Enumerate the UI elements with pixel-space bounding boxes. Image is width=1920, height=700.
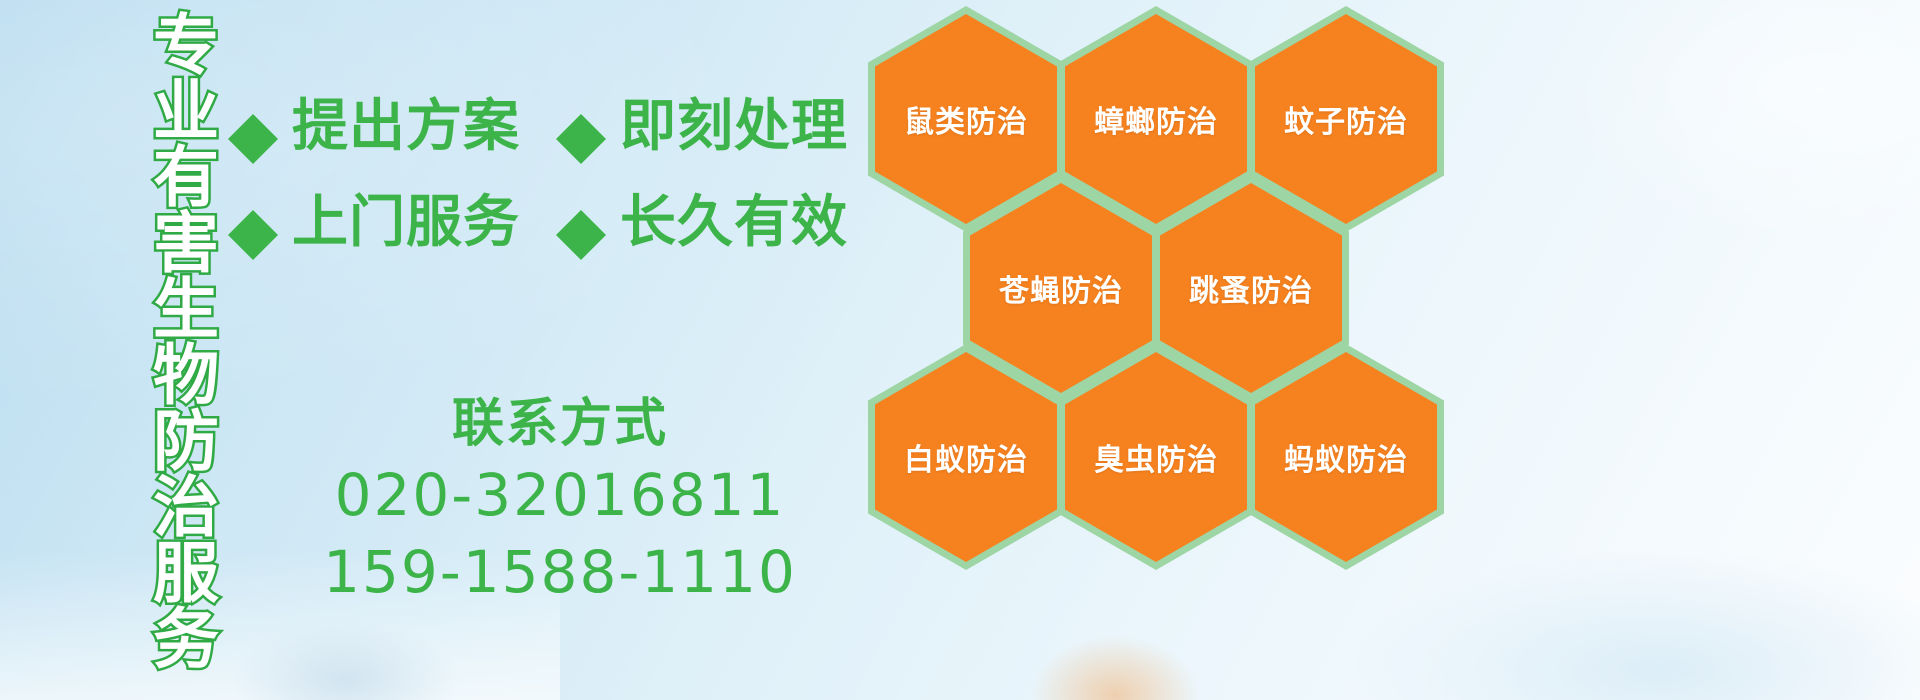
service-hexagon-grid: 鼠类防治 蟑螂防治 蚊子防治 苍蝇防治 跳蚤防治 白蚁防治 臭虫防治 蚂蚁 [862,0,1462,560]
pest-control-banner: 专业有害生物防治服务 提出方案 即刻处理 上门服务 长久有效 联系方式 [0,0,1920,700]
background-haze-bottom-right [1350,550,1920,700]
hex-label: 臭虫防治 [1094,435,1218,479]
background-blob-left [230,620,460,700]
feature-row: 上门服务 长久有效 [228,174,868,270]
phone-number-landline[interactable]: 020-32016811 [300,457,820,534]
feature-item-long-lasting: 长久有效 [556,194,848,250]
feature-row: 提出方案 即刻处理 [228,78,868,174]
feature-label: 上门服务 [292,194,520,250]
feature-label: 提出方案 [292,98,520,154]
hex-label: 蚊子防治 [1284,97,1408,141]
diamond-bullet-icon [556,185,606,235]
background-glow-top-right [1560,0,1920,240]
contact-block: 联系方式 020-32016811 159-1588-1110 [300,392,820,610]
feature-item-immediate-handling: 即刻处理 [556,98,848,154]
feature-item-propose-plan: 提出方案 [228,98,520,154]
hex-label: 蚂蚁防治 [1284,435,1408,479]
hex-label: 鼠类防治 [904,97,1028,141]
hex-label: 白蚁防治 [904,435,1028,479]
phone-number-mobile[interactable]: 159-1588-1110 [300,534,820,611]
feature-item-onsite-service: 上门服务 [228,194,520,250]
diamond-bullet-icon [228,185,278,235]
hex-label: 苍蝇防治 [999,266,1123,310]
diamond-bullet-icon [228,89,278,139]
diamond-bullet-icon [556,89,606,139]
hex-label: 跳蚤防治 [1189,266,1313,310]
feature-label: 即刻处理 [620,98,848,154]
feature-list: 提出方案 即刻处理 上门服务 长久有效 [228,78,868,270]
hex-label: 蟑螂防治 [1094,97,1218,141]
background-blob-orange [1030,635,1200,700]
feature-label: 长久有效 [620,194,848,250]
contact-title: 联系方式 [300,392,820,457]
vertical-headline: 专业有害生物防治服务 [118,10,214,690]
